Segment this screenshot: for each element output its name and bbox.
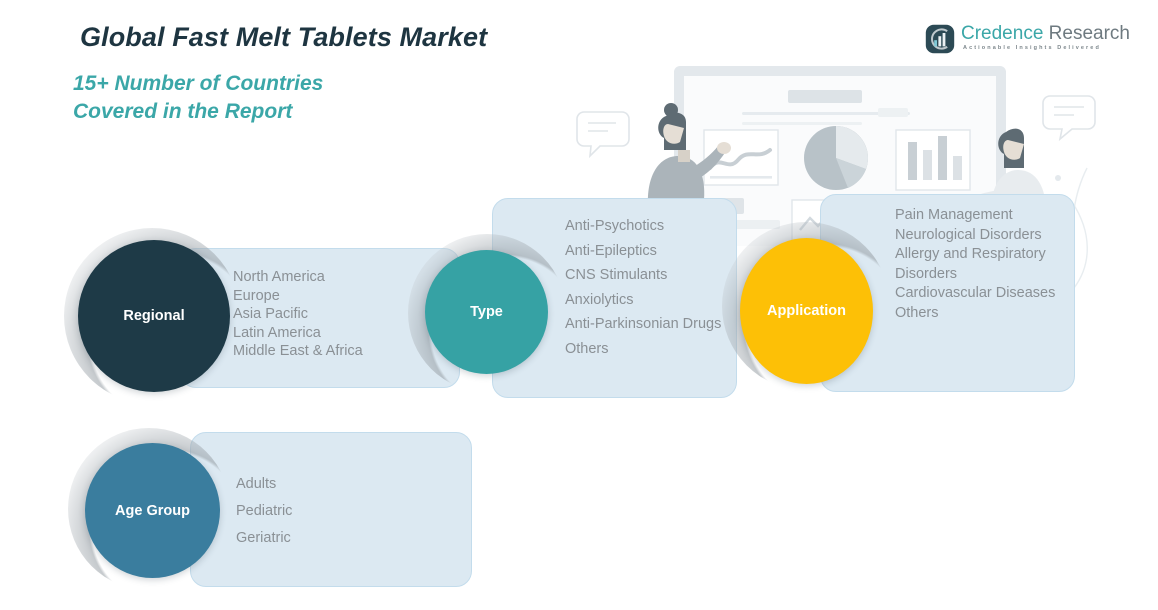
board-title-bar	[788, 90, 862, 103]
page-title: Global Fast Melt Tablets Market	[80, 22, 487, 53]
category-items-agegroup: Adults Pediatric Geriatric	[236, 471, 446, 552]
pie-chart	[804, 126, 868, 190]
dot-accent	[1055, 175, 1061, 181]
infographic-canvas: Global Fast Melt Tablets Market 15+ Numb…	[0, 0, 1158, 610]
category-group-regional: Regional North America Europe Asia Pacif…	[60, 228, 410, 404]
bar-chart-card	[896, 130, 970, 190]
category-items-type: Anti-Psychotics Anti-Epileptics CNS Stim…	[565, 214, 740, 361]
speech-bubble-right	[1043, 96, 1095, 139]
category-circle-regional[interactable]: Regional	[78, 240, 230, 392]
category-group-type: Type Anti-Psychotics Anti-Epileptics CNS…	[408, 188, 743, 404]
brand-logo[interactable]: Credence Research Actionable Insights De…	[925, 24, 1110, 58]
category-group-application: Application Pain Management Neurological…	[722, 184, 1078, 396]
category-circle-type[interactable]: Type	[425, 250, 548, 374]
brand-word-primary: Credence	[961, 23, 1043, 44]
category-items-application: Pain Management Neurological Disorders A…	[895, 206, 1067, 323]
brand-tagline: Actionable Insights Delivered	[963, 45, 1101, 51]
category-group-agegroup: Age Group Adults Pediatric Geriatric	[62, 428, 414, 590]
page-subtitle: 15+ Number of Countries Covered in the R…	[73, 70, 323, 126]
brand-wordmark: Credence Research	[961, 23, 1130, 45]
speech-bubble-left	[577, 112, 629, 156]
brand-word-secondary: Research	[1049, 23, 1130, 44]
category-circle-agegroup[interactable]: Age Group	[85, 443, 220, 578]
credence-bar-chart-mark	[925, 24, 955, 54]
category-circle-application[interactable]: Application	[740, 238, 873, 384]
